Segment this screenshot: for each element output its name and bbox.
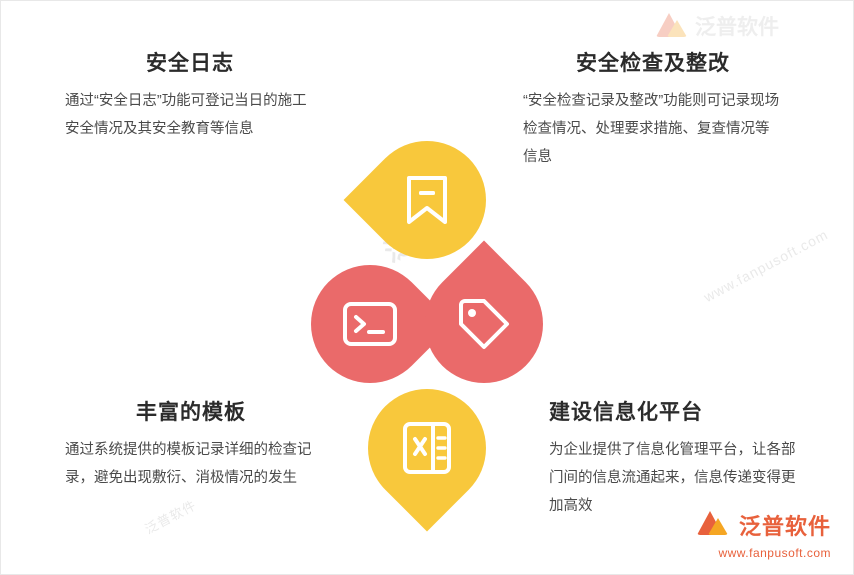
fanpu-logo-icon bbox=[654, 9, 688, 43]
petal-right bbox=[401, 241, 568, 408]
text-block-bottom-right: 建设信息化平台 为企业提供了信息化管理平台，让各部门间的信息流通起来，信息传递变… bbox=[549, 396, 801, 520]
text-block-top-left: 安全日志 通过“安全日志”功能可登记当日的施工安全情况及其安全教育等信息 bbox=[65, 47, 315, 143]
watermark-top-right: 泛普软件 bbox=[654, 9, 779, 43]
tag-icon bbox=[425, 265, 543, 383]
top-left-body: 通过“安全日志”功能可登记当日的施工安全情况及其安全教育等信息 bbox=[65, 87, 315, 143]
bottom-right-title: 建设信息化平台 bbox=[549, 396, 801, 426]
petal-bottom bbox=[344, 365, 511, 532]
top-left-title: 安全日志 bbox=[65, 47, 315, 77]
watermark-site-text: www.fanpusoft.com bbox=[701, 226, 831, 305]
bookmark-icon bbox=[368, 141, 486, 259]
terminal-icon bbox=[311, 265, 429, 383]
bottom-left-body: 通过系统提供的模板记录详细的检查记录，避免出现敷衍、消极情况的发生 bbox=[65, 436, 317, 492]
watermark-top-right-text: 泛普软件 bbox=[695, 11, 779, 41]
spreadsheet-icon bbox=[368, 389, 486, 507]
text-block-top-right: 安全检查及整改 “安全检查记录及整改”功能则可记录现场检查情况、处理要求措施、复… bbox=[523, 47, 783, 171]
bottom-left-title: 丰富的模板 bbox=[65, 396, 317, 426]
top-right-body: “安全检查记录及整改”功能则可记录现场检查情况、处理要求措施、复查情况等信息 bbox=[523, 87, 783, 171]
petal-cluster bbox=[311, 141, 543, 513]
watermark-bottom-left-text: 泛普软件 bbox=[141, 495, 199, 538]
brand-url: www.fanpusoft.com bbox=[695, 546, 831, 560]
brand-logo-icon bbox=[695, 507, 731, 543]
diagram-canvas: 泛普软件 泛普软件 泛普软件 www.fanpusoft.com bbox=[0, 0, 854, 575]
brand-name: 泛普软件 bbox=[739, 509, 831, 541]
text-block-bottom-left: 丰富的模板 通过系统提供的模板记录详细的检查记录，避免出现敷衍、消极情况的发生 bbox=[65, 396, 317, 492]
top-right-title: 安全检查及整改 bbox=[523, 47, 783, 77]
brand-logo: 泛普软件 www.fanpusoft.com bbox=[695, 507, 831, 560]
